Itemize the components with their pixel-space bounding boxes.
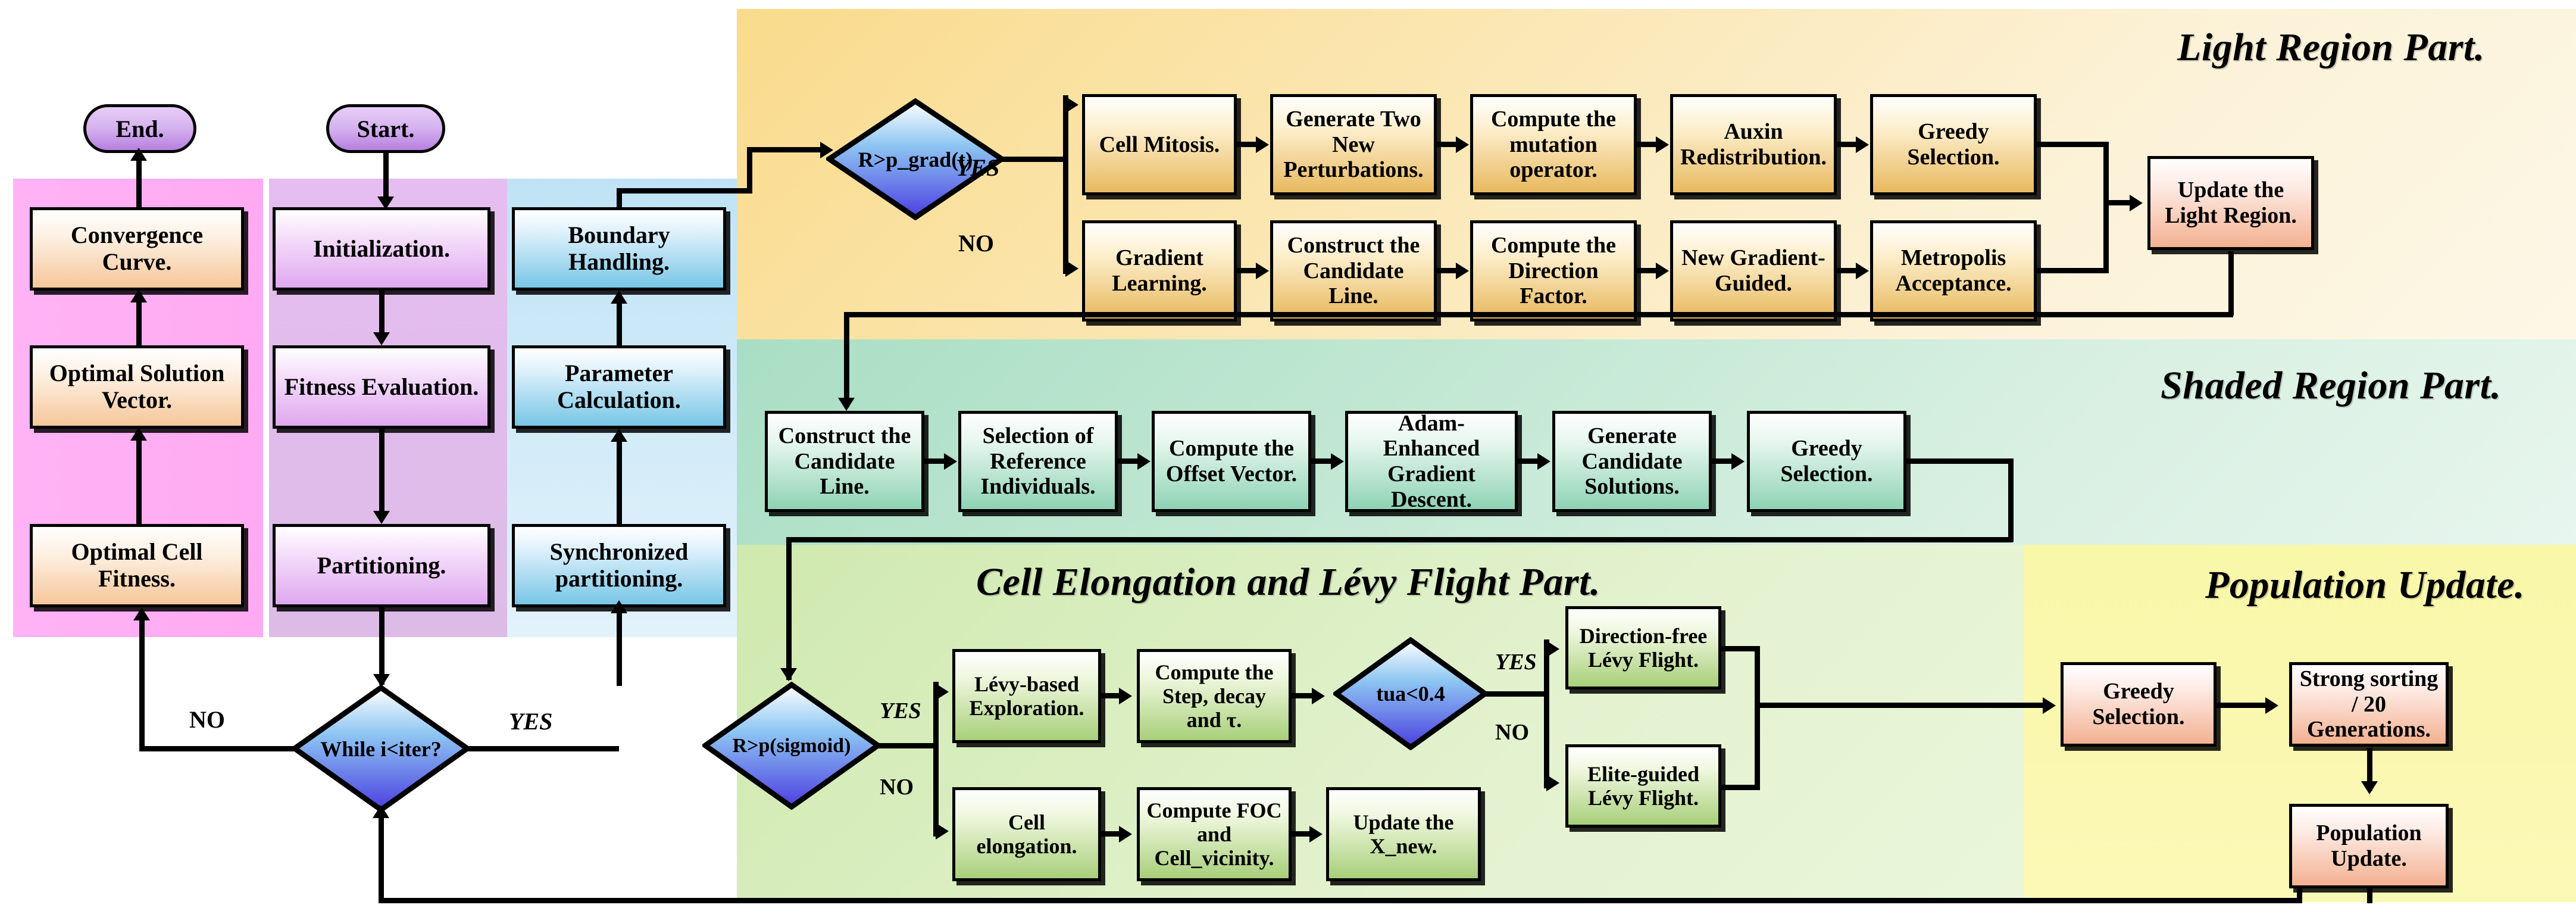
arrowhead-sigmoid-yes	[936, 684, 949, 700]
arrowhead-while-yes-to-sync	[611, 600, 627, 613]
edge-while-no-vertical	[139, 616, 145, 751]
region-title-shaded: Shaded Region Part.	[2161, 363, 2501, 408]
arrowhead-mitosis-to-perturb	[1256, 136, 1269, 153]
decision-while-i-iter[interactable]: While i<iter?	[292, 685, 470, 813]
decision-tua-label: tua<0.4	[1333, 637, 1488, 750]
arrowhead-sync-to-param	[611, 429, 627, 442]
edge-partitioning-to-while	[379, 607, 384, 685]
edge-sigmoid-split-vertical	[933, 682, 939, 837]
arrowhead-shaded-into-sigmoid	[780, 668, 797, 681]
edge-sigmoid-split-horizontal	[879, 743, 938, 748]
node-initialization[interactable]: Initialization.	[273, 207, 490, 291]
decision-while-label: While i<iter?	[292, 685, 470, 813]
node-update-light-region[interactable]: Update the Light Region.	[2147, 156, 2314, 250]
node-boundary-handling[interactable]: Boundary Handling.	[512, 207, 726, 291]
edge-shaded-into-sigmoid	[786, 537, 792, 680]
arrowhead-fitnesseval-to-partitioning	[373, 511, 390, 524]
arrowhead-fitness-to-solution	[130, 428, 147, 441]
edge-updatelight-left	[844, 312, 2233, 317]
arrowhead-shaded-4-5	[1537, 453, 1550, 470]
node-greedy-selection-shaded[interactable]: Greedy Selection.	[1747, 411, 1906, 512]
edge-boundary-right	[617, 188, 752, 194]
edge-param-to-boundary	[617, 299, 622, 348]
edge-levy-merge-to-population	[1755, 703, 2046, 708]
node-optimal-solution-vector[interactable]: Optimal Solution Vector.	[30, 345, 244, 429]
node-direction-free-levy-flight[interactable]: Direction-free Lévy Flight.	[1565, 606, 1721, 690]
edge-fitness-to-solution	[136, 437, 142, 526]
arrowhead-step-to-tua	[1312, 688, 1325, 704]
edge-tua-split-horizontal	[1486, 691, 1549, 697]
arrowhead-direction-to-newgrad	[1656, 263, 1669, 279]
arrowhead-sigmoid-no	[936, 823, 949, 840]
edge-sync-to-param	[617, 438, 622, 526]
edge-while-no-horizontal	[139, 746, 294, 751]
edge-fitnesseval-to-partitioning	[379, 429, 384, 518]
node-compute-step-decay-tau[interactable]: Compute the Step, decay and τ.	[1137, 649, 1292, 743]
node-compute-offset-vector[interactable]: Compute the Offset Vector.	[1152, 411, 1311, 512]
flowchart-canvas: Light Region Part. Shaded Region Part. C…	[0, 0, 2576, 911]
edge-tua-split-vertical	[1544, 639, 1549, 788]
node-greedy-selection-light[interactable]: Greedy Selection.	[1870, 94, 2037, 195]
edge-label-sigmoid-yes: YES	[880, 698, 921, 724]
edge-shaded-exit-left	[786, 537, 2013, 542]
region-title-population: Population Update.	[2205, 563, 2525, 608]
edge-levy-merge-vertical	[1755, 646, 1760, 790]
node-selection-reference-individuals[interactable]: Selection of Reference Individuals.	[958, 411, 1118, 512]
arrowhead-newgrad-to-metropolis	[1856, 263, 1869, 279]
node-synchronized-partitioning[interactable]: Synchronized partitioning.	[512, 524, 726, 607]
node-compute-mutation-operator[interactable]: Compute the mutation operator.	[1470, 94, 1637, 195]
edge-grad-split-horizontal	[1002, 157, 1068, 162]
terminator-start[interactable]: Start.	[326, 104, 445, 153]
edge-while-yes-horizontal	[468, 746, 619, 751]
arrowhead-global-return	[373, 805, 389, 818]
edge-light-merge-vertical	[2103, 142, 2109, 273]
node-auxin-redistribution[interactable]: Auxin Redistribution.	[1670, 94, 1837, 195]
arrowhead-auxin-to-greedy	[1856, 136, 1869, 153]
arrowhead-grad-yes	[1065, 96, 1078, 113]
node-gradient-learning[interactable]: Gradient Learning.	[1082, 220, 1237, 322]
node-update-x-new[interactable]: Update the X_new.	[1326, 787, 1481, 881]
arrowhead-light-merge-into-update	[2130, 195, 2143, 211]
arrowhead-construct-to-direction	[1456, 263, 1469, 279]
node-optimal-cell-fitness[interactable]: Optimal Cell Fitness.	[30, 524, 244, 607]
edge-dfree-merge	[1721, 646, 1759, 651]
edge-grad-split-vertical	[1063, 95, 1068, 274]
arrowhead-levyno-1-2	[1119, 826, 1132, 843]
edge-population-return-corner	[2367, 898, 2372, 903]
edge-shaded-exit-down	[2008, 458, 2014, 542]
arrowhead-updatelight-into-shaded	[838, 398, 855, 411]
edge-label-sigmoid-no: NO	[880, 774, 914, 800]
node-convergence-curve[interactable]: Convergence Curve.	[30, 207, 244, 291]
arrowhead-grad-no	[1065, 260, 1078, 277]
arrowhead-gradlearn-to-construct	[1256, 263, 1269, 279]
region-title-light: Light Region Part.	[2177, 25, 2485, 70]
node-fitness-evaluation[interactable]: Fitness Evaluation.	[273, 345, 490, 429]
node-construct-candidate-line-shaded[interactable]: Construct the Candidate Line.	[765, 411, 924, 512]
edge-greedypop-to-sorting	[2217, 703, 2269, 708]
node-partitioning[interactable]: Partitioning.	[273, 524, 490, 607]
edge-elite-merge	[1721, 785, 1759, 790]
edge-shaded-exit-right	[1906, 458, 2014, 464]
edge-label-grad-yes: YES	[956, 154, 999, 182]
edge-while-yes-to-sync	[617, 609, 622, 686]
edge-global-return-vertical	[379, 813, 384, 903]
arrowhead-tua-yes	[1546, 641, 1559, 657]
node-generate-candidate-solutions[interactable]: Generate Candidate Solutions.	[1552, 411, 1712, 512]
node-generate-two-perturbations[interactable]: Generate Two New Perturbations.	[1270, 94, 1437, 195]
edge-label-while-no: NO	[189, 706, 225, 734]
arrowhead-greedypop-to-sorting	[2265, 697, 2278, 714]
edge-metropolis-merge-bottom	[2037, 268, 2108, 273]
edge-label-grad-no: NO	[958, 229, 994, 257]
arrowhead-levy-1-2	[1119, 688, 1132, 704]
arrowhead-perturb-to-mutation	[1456, 136, 1469, 153]
arrowhead-shaded-5-6	[1731, 453, 1745, 470]
edge-label-tua-yes: YES	[1495, 649, 1537, 675]
edge-label-tua-no: NO	[1495, 719, 1529, 745]
arrowhead-shaded-3-4	[1331, 453, 1344, 470]
edge-convergence-to-end	[136, 156, 142, 207]
arrowhead-levy-merge-to-population	[2043, 697, 2056, 714]
node-compute-foc-cell-vicinity[interactable]: Compute FOC and Cell_vicinity.	[1137, 787, 1292, 881]
node-population-update[interactable]: Population Update.	[2289, 804, 2449, 888]
node-elite-guided-levy-flight[interactable]: Elite-guided Lévy Flight.	[1565, 744, 1721, 828]
edge-into-grad-horizontal	[747, 147, 824, 152]
edge-updatelight-into-shaded	[844, 312, 849, 407]
node-parameter-calculation[interactable]: Parameter Calculation.	[512, 345, 726, 429]
node-greedy-selection-population[interactable]: Greedy Selection.	[2061, 662, 2217, 747]
arrowhead-mutation-to-auxin	[1656, 136, 1669, 153]
node-construct-candidate-line-light[interactable]: Construct the Candidate Line.	[1270, 220, 1437, 322]
arrowhead-solution-to-convergence	[130, 289, 147, 302]
node-levy-based-exploration[interactable]: Lévy-based Exploration.	[952, 649, 1101, 743]
decision-tua-lt-04[interactable]: tua<0.4	[1333, 637, 1488, 750]
edge-solution-to-convergence	[136, 298, 142, 347]
node-metropolis-acceptance[interactable]: Metropolis Acceptance.	[1870, 220, 2037, 322]
arrowhead-convergence-to-end	[130, 148, 147, 161]
edge-updatelight-down	[2228, 251, 2234, 316]
node-compute-direction-factor[interactable]: Compute the Direction Factor.	[1470, 220, 1637, 322]
node-strong-sorting-generations[interactable]: Strong sorting / 20 Generations.	[2289, 662, 2449, 747]
edge-boundary-down-to-grad	[747, 147, 752, 194]
arrowhead-init-to-fitness	[373, 332, 390, 345]
decision-r-gt-p-sigmoid[interactable]: R>p(sigmoid)	[702, 682, 881, 810]
node-cell-elongation[interactable]: Cell elongation.	[952, 787, 1101, 881]
node-cell-mitosis[interactable]: Cell Mitosis.	[1082, 94, 1237, 195]
terminator-end[interactable]: End.	[83, 104, 196, 153]
region-title-levy: Cell Elongation and Lévy Flight Part.	[976, 560, 1600, 605]
node-adam-enhanced-gradient-descent[interactable]: Adam-Enhanced Gradient Descent.	[1345, 411, 1518, 512]
arrowhead-param-to-boundary	[611, 291, 627, 304]
arrowhead-levyno-2-3	[1309, 826, 1323, 843]
arrowhead-shaded-2-3	[1137, 453, 1151, 470]
arrowhead-while-no	[133, 607, 150, 620]
decision-sigmoid-label: R>p(sigmoid)	[702, 682, 881, 810]
edge-label-while-yes: YES	[509, 707, 552, 735]
edge-global-return-horizontal	[379, 898, 2302, 903]
node-new-gradient-guided[interactable]: New Gradient-Guided.	[1670, 220, 1837, 322]
arrowhead-sorting-to-population	[2361, 781, 2378, 794]
arrowhead-tua-no	[1546, 775, 1559, 791]
edge-greedy-light-merge-top	[2037, 142, 2108, 147]
arrowhead-shaded-1-2	[944, 453, 957, 470]
